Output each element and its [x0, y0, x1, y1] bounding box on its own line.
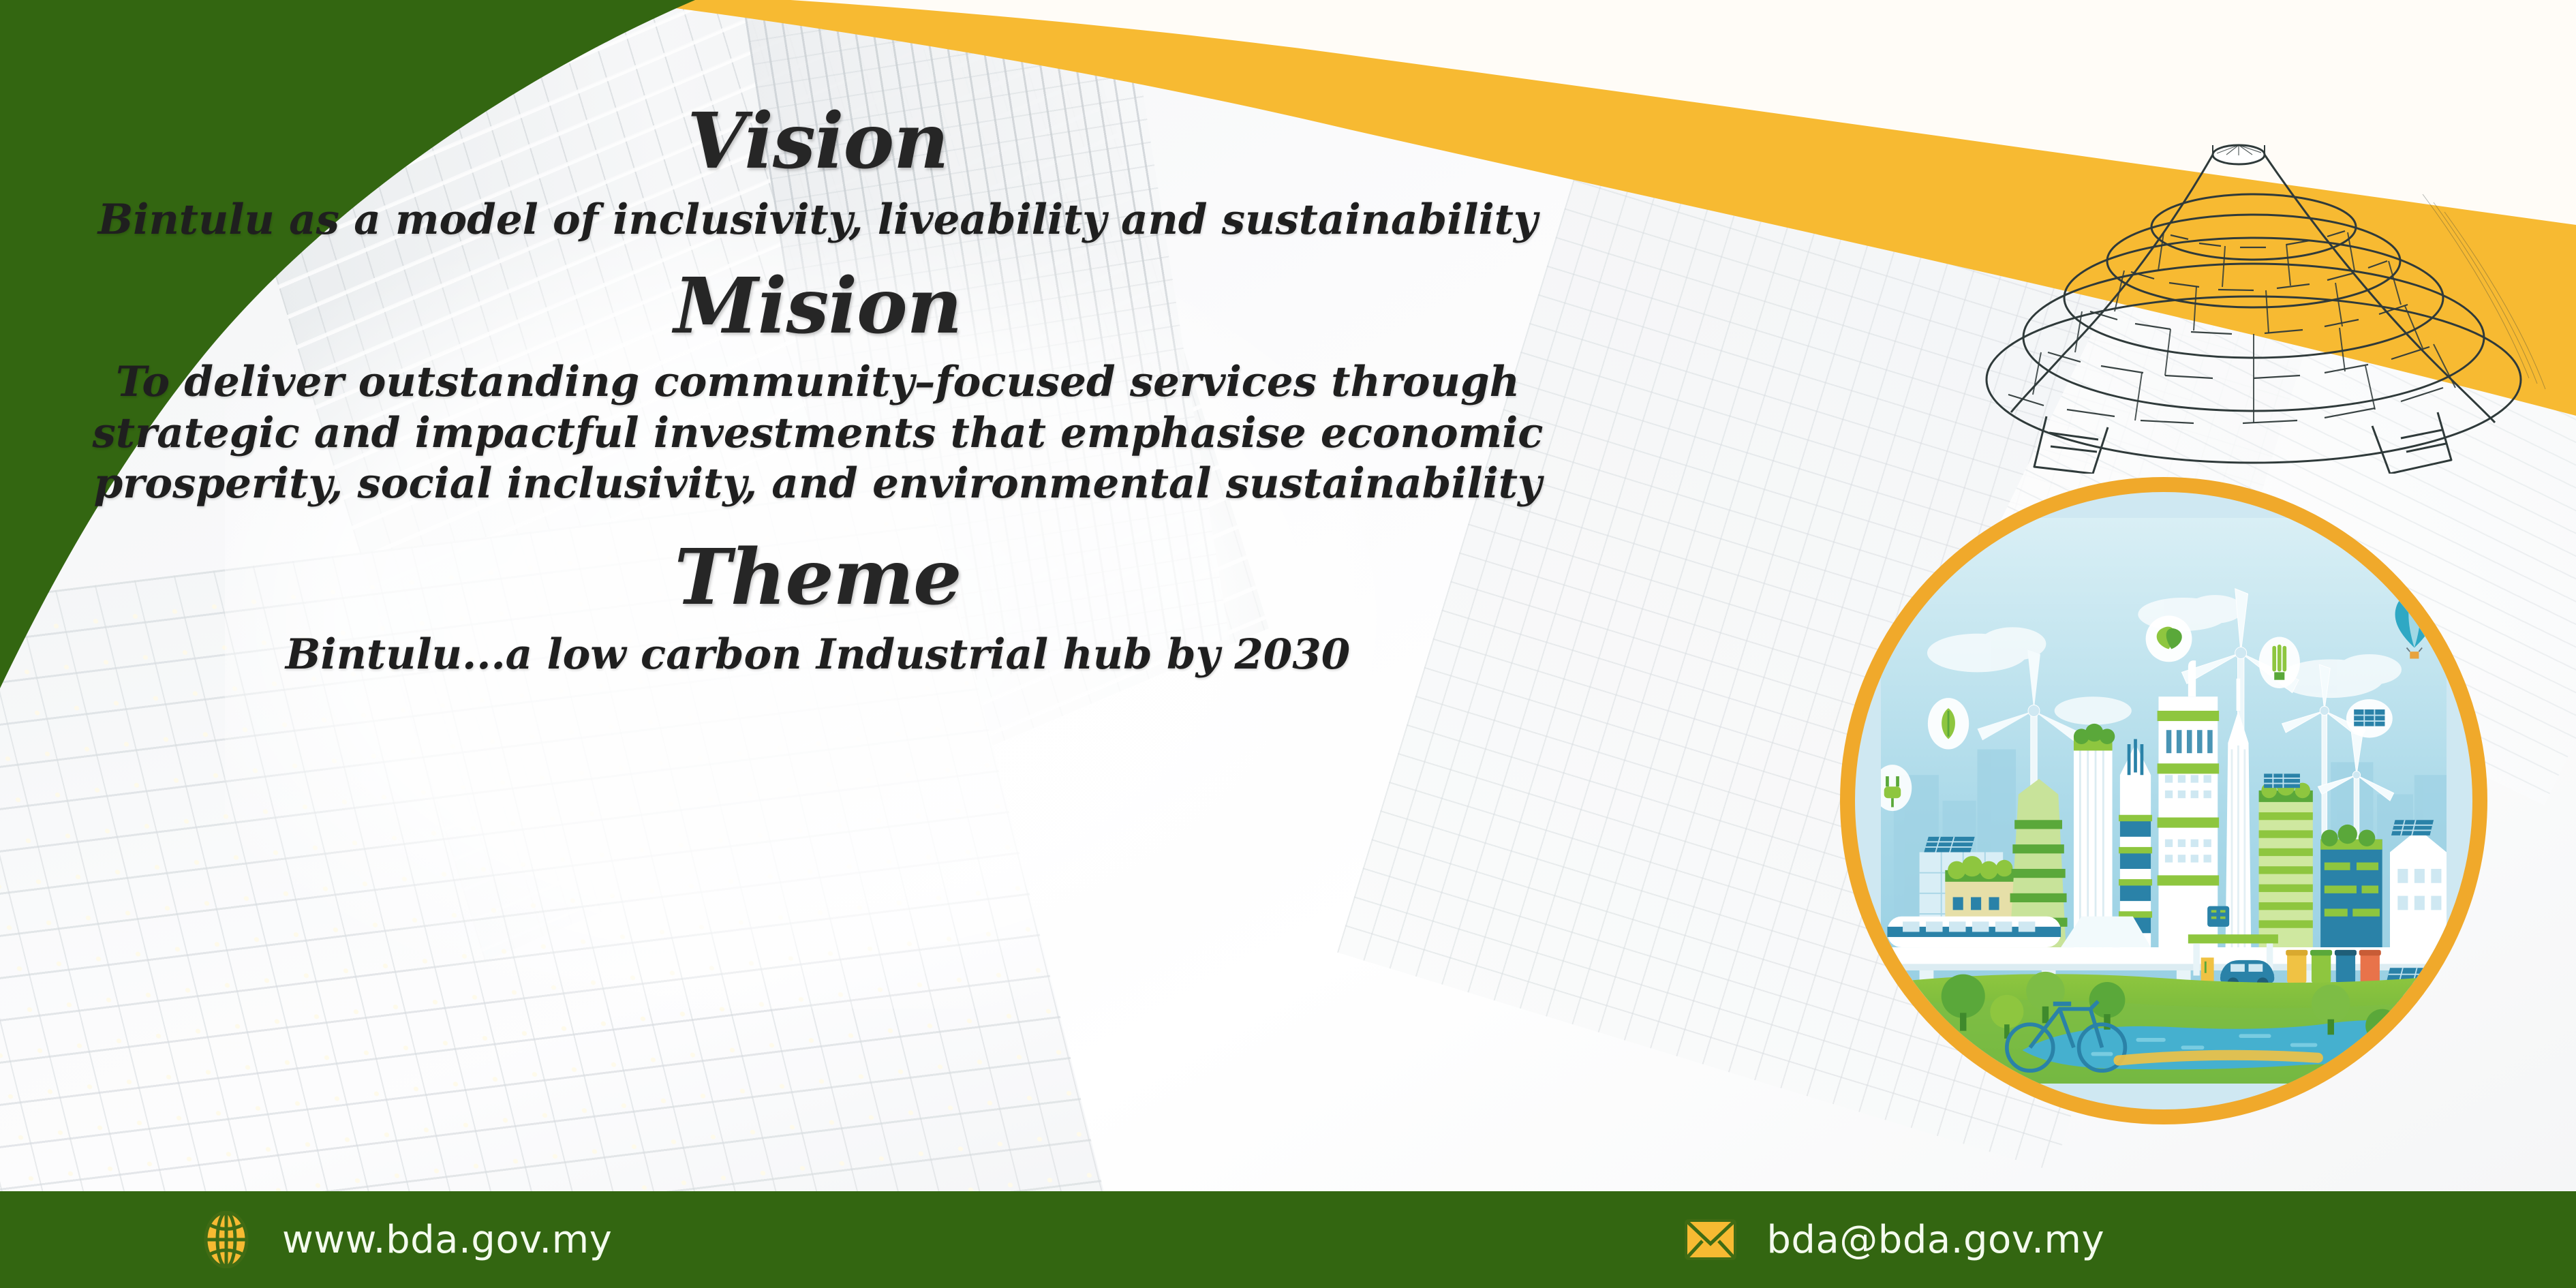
theme-heading: Theme [675, 540, 962, 616]
cone-upper-shell [2011, 155, 2213, 412]
cfl-bulb-badge [2259, 637, 2300, 688]
email-label: bda@bda.gov.my [1766, 1218, 2104, 1262]
contact-footer: www.bda.gov.my bda@bda.gov.my [0, 1191, 2576, 1288]
vision-heading: Vision [687, 104, 948, 180]
email-contact[interactable]: bda@bda.gov.my [1682, 1211, 2104, 1268]
train [1887, 917, 2061, 947]
bda-vision-mission-banner: Vision Bintulu as a model of inclusivity… [0, 0, 2576, 1288]
solar-panel-roof-mid [2264, 773, 2300, 788]
garden-path [2119, 1055, 2318, 1060]
mission-line-2: strategic and impactful investments that… [93, 408, 1544, 459]
mission-heading: Mision [674, 269, 962, 345]
envelope-icon [1682, 1211, 1739, 1268]
vision-line-1: Bintulu as a model of inclusivity, livea… [98, 195, 1538, 245]
corn-badge [1928, 698, 1969, 749]
website-contact[interactable]: www.bda.gov.my [198, 1211, 612, 1268]
solar-panel-roof-left [1924, 837, 1974, 853]
mission-line-1: To deliver outstanding community–focused… [116, 357, 1520, 408]
mission-line-3: prosperity, social inclusivity, and envi… [94, 459, 1542, 509]
cone-tier-2 [2107, 215, 2400, 307]
leaf-badge [2146, 615, 2192, 662]
bda-building-line-art [1946, 112, 2559, 474]
vision-mission-theme-content: Vision Bintulu as a model of inclusivity… [225, 102, 1411, 1043]
solar-panel-roof-right [2391, 820, 2434, 835]
website-label: www.bda.gov.my [282, 1218, 612, 1262]
solar-panel-badge [2346, 699, 2393, 738]
theme-line-1: Bintulu...a low carbon Industrial hub by… [286, 630, 1350, 680]
cone-leg-right [2372, 412, 2451, 474]
cone-leg-left [2034, 416, 2108, 474]
eco-city-illustration [1881, 518, 2447, 1084]
cone-tier-1 [2151, 194, 2356, 260]
globe-icon [198, 1211, 255, 1268]
eco-city-circle [1840, 477, 2487, 1124]
